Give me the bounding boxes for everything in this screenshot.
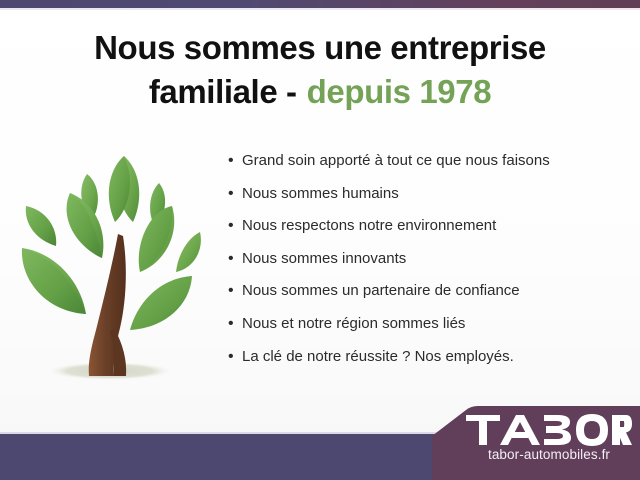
brand-logo[interactable]: tabor-automobiles.fr xyxy=(466,413,640,469)
list-item-label: Nous et notre région sommes liés xyxy=(242,313,626,335)
bullet-dot-icon: • xyxy=(228,215,242,237)
list-item: • La clé de notre réussite ? Nos employé… xyxy=(228,346,626,379)
leaf-far-left-small xyxy=(26,206,56,246)
top-accent-hairline xyxy=(0,8,640,10)
brand-url[interactable]: tabor-automobiles.fr xyxy=(466,447,632,463)
bullet-dot-icon: • xyxy=(228,150,242,172)
list-item: • Nous sommes un partenaire de confiance xyxy=(228,280,626,313)
value-list: • Grand soin apporté à tout ce que nous … xyxy=(228,150,626,378)
list-item-label: Nous respectons notre environnement xyxy=(242,215,626,237)
bullet-dot-icon: • xyxy=(228,346,242,368)
leaf-right-lower-large xyxy=(130,276,192,330)
headline-line-2: familiale -depuis 1978 xyxy=(0,70,640,114)
list-item-label: Nous sommes innovants xyxy=(242,248,626,270)
list-item-label: Nous sommes humains xyxy=(242,183,626,205)
list-item: • Nous sommes humains xyxy=(228,183,626,216)
leaf-far-right-small xyxy=(176,232,201,272)
list-item: • Nous sommes innovants xyxy=(228,248,626,281)
headline-line-1: Nous sommes une entreprise xyxy=(94,29,546,66)
bullet-dot-icon: • xyxy=(228,248,242,270)
bullet-dot-icon: • xyxy=(228,313,242,335)
bullet-dot-icon: • xyxy=(228,280,242,302)
list-item-label: La clé de notre réussite ? Nos employés. xyxy=(242,346,626,368)
leaf-left-lower-large-shade xyxy=(22,248,86,314)
headline-line-2-accent: depuis 1978 xyxy=(307,73,492,110)
list-item: • Grand soin apporté à tout ce que nous … xyxy=(228,150,626,183)
tabor-wordmark-icon xyxy=(466,413,632,447)
headline-line-2-black: familiale - xyxy=(149,73,297,110)
tree-svg xyxy=(14,148,210,392)
family-tree-illustration xyxy=(14,148,210,392)
slide-canvas: Nous sommes une entreprise familiale -de… xyxy=(0,0,640,480)
page-title: Nous sommes une entreprise familiale -de… xyxy=(0,26,640,114)
bullet-dot-icon: • xyxy=(228,183,242,205)
list-item-label: Nous sommes un partenaire de confiance xyxy=(242,280,626,302)
top-accent-bar xyxy=(0,0,640,8)
list-item: • Nous et notre région sommes liés xyxy=(228,313,626,346)
list-item-label: Grand soin apporté à tout ce que nous fa… xyxy=(242,150,626,172)
list-item: • Nous respectons notre environnement xyxy=(228,215,626,248)
